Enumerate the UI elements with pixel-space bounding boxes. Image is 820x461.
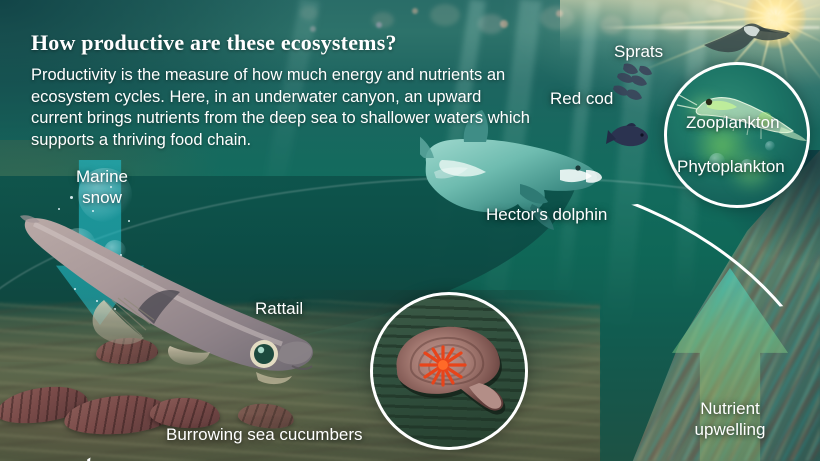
- red-cod-fish-icon: [604, 118, 652, 150]
- page-title: How productive are these ecosystems?: [31, 30, 501, 56]
- bubble: [765, 141, 775, 151]
- lens-flare: [430, 4, 460, 26]
- seabird-icon: [700, 14, 792, 60]
- label-nutrient-upwelling: Nutrient upwelling: [680, 398, 780, 440]
- sprat-school-icon: [610, 58, 674, 108]
- lens-flare: [500, 20, 508, 28]
- label-rattail: Rattail: [255, 298, 303, 319]
- marine-snow-particle: [58, 208, 60, 210]
- label-phytoplankton: Phytoplankton: [677, 156, 785, 177]
- label-hectors-dolphin: Hector's dolphin: [486, 204, 607, 225]
- label-burrowing-sea-cucumbers: Burrowing sea cucumbers: [166, 424, 363, 445]
- label-marine-snow: Marine snow: [62, 166, 142, 208]
- sea-cucumber-icon: [373, 295, 525, 447]
- infographic-scene: How productive are these ecosystems? Pro…: [0, 0, 820, 461]
- lens-flare: [600, 16, 624, 34]
- lens-flare: [300, 6, 318, 20]
- lens-flare: [660, 10, 690, 32]
- lens-flare: [412, 8, 418, 14]
- label-zooplankton: Zooplankton: [686, 112, 780, 133]
- lens-flare: [376, 22, 382, 28]
- label-red-cod: Red cod: [550, 88, 613, 109]
- label-sprats: Sprats: [614, 41, 663, 62]
- lens-flare: [556, 10, 563, 17]
- sea-cucumber-magnifier: [370, 292, 528, 450]
- intro-paragraph: Productivity is the measure of how much …: [31, 65, 531, 151]
- plankton-magnifier: [664, 62, 810, 208]
